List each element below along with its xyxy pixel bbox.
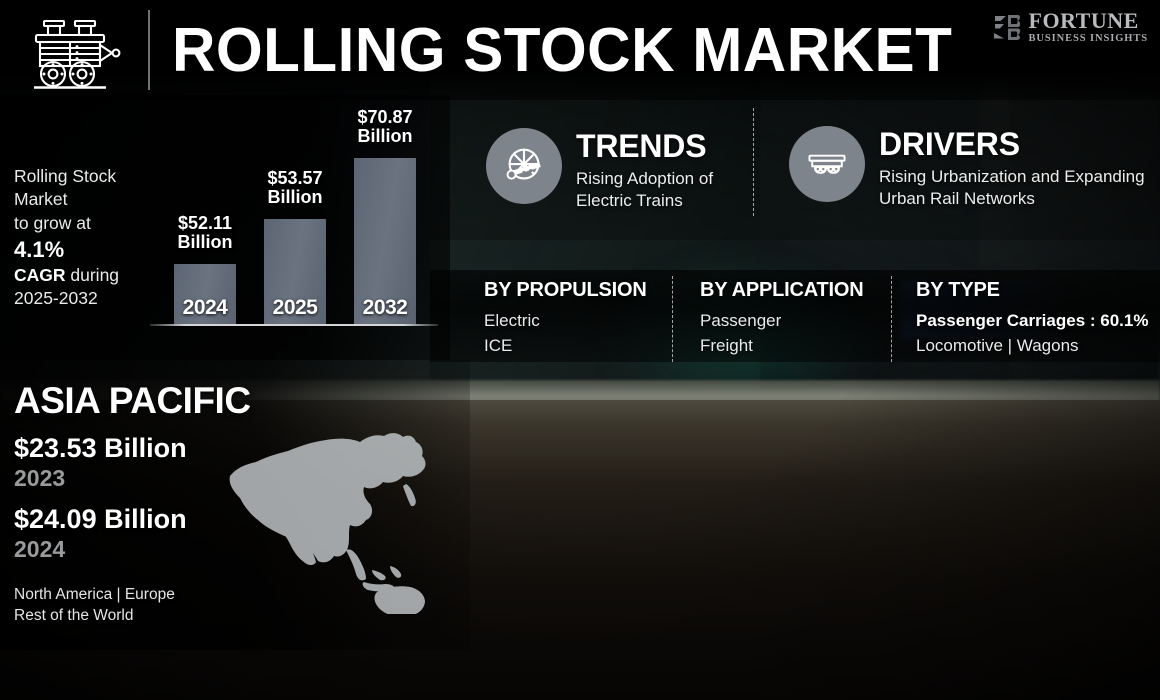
header-divider (148, 10, 150, 90)
bar-value-label-2024: $52.11 Billion (159, 214, 251, 252)
brand-subtitle: BUSINESS INSIGHTS (1029, 34, 1148, 45)
locomotive-icon (24, 12, 124, 90)
insight-desc-trends: Rising Adoption of Electric Trains (576, 168, 756, 212)
bar-value-label-2032: $70.87 Billion (339, 108, 431, 146)
fb-monogram-icon (992, 12, 1022, 42)
segment-items: Electric ICE (484, 309, 647, 358)
segment-by-propulsion: BY PROPULSION Electric ICE (484, 280, 647, 358)
brand-name: FORTUNE (1029, 10, 1148, 32)
segment-heading: BY PROPULSION (484, 280, 647, 300)
summary-line-1: Rolling Stock (14, 165, 146, 188)
summary-line-2: Market (14, 188, 146, 211)
bar-category-2032: 2032 (350, 296, 420, 320)
page-title: ROLLING STOCK MARKET (172, 8, 952, 92)
segment-item: Passenger (700, 309, 864, 334)
brand-logo: FORTUNE BUSINESS INSIGHTS (992, 10, 1148, 45)
segment-by-application: BY APPLICATION Passenger Freight (700, 280, 864, 358)
insight-trends: TRENDS Rising Adoption of Electric Train… (486, 128, 756, 212)
segment-item: ICE (484, 334, 647, 359)
infographic-root: ROLLING STOCK MARKET FORTUNE BUSINESS IN… (0, 0, 1160, 700)
asia-pacific-map (218, 424, 438, 614)
insights-divider (753, 108, 754, 216)
market-size-bar-chart: $52.11 Billion $53.57 Billion $70.87 Bil… (150, 108, 440, 336)
cagr-line: CAGR during (14, 264, 146, 287)
segment-highlight: Passenger Carriages : 60.1% (916, 309, 1148, 334)
chart-baseline (150, 324, 438, 326)
insight-drivers: DRIVERS Rising Urbanization and Expandin… (789, 126, 1154, 210)
insight-desc-drivers: Rising Urbanization and Expanding Urban … (879, 166, 1154, 210)
region-name: ASIA PACIFIC (14, 382, 344, 419)
during-word: during (66, 265, 120, 285)
bar-category-2025: 2025 (260, 296, 330, 320)
cagr-value: 4.1% (14, 235, 146, 264)
segment-divider-1 (672, 276, 673, 362)
segment-item: Freight (700, 334, 864, 359)
header: ROLLING STOCK MARKET FORTUNE BUSINESS IN… (0, 0, 1160, 100)
segment-heading: BY TYPE (916, 280, 1148, 300)
segment-items: Passenger Freight (700, 309, 864, 358)
bar-value-label-2025: $53.57 Billion (249, 169, 341, 207)
train-wheel-icon (486, 128, 562, 204)
market-summary-text: Rolling Stock Market to grow at 4.1% CAG… (14, 165, 146, 311)
segment-item: Locomotive | Wagons (916, 334, 1148, 359)
forecast-period: 2025-2032 (14, 287, 146, 310)
summary-line-3: to grow at (14, 212, 146, 235)
insight-title-trends: TRENDS (576, 130, 756, 162)
cagr-label: CAGR (14, 265, 66, 285)
segment-by-type: BY TYPE Passenger Carriages : 60.1% Loco… (916, 280, 1148, 358)
segment-divider-2 (891, 276, 892, 362)
segment-heading: BY APPLICATION (700, 280, 864, 300)
bar-category-2024: 2024 (170, 296, 240, 320)
bogie-undercarriage-icon (789, 126, 865, 202)
insight-title-drivers: DRIVERS (879, 128, 1154, 160)
segment-item: Electric (484, 309, 647, 334)
